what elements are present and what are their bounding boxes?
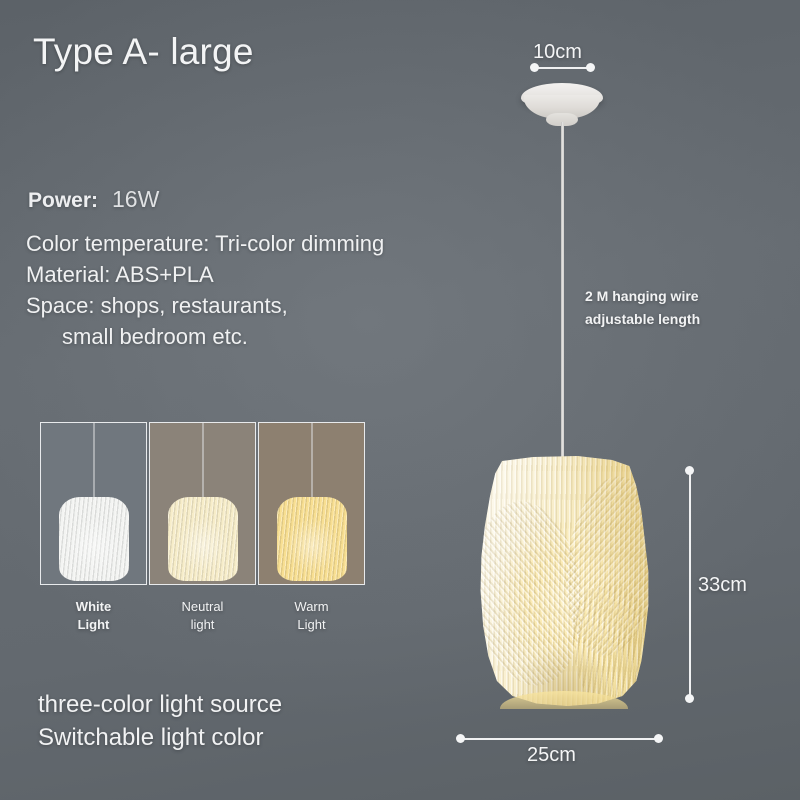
product-spec-image: Type A- large Power: 16W Color temperatu… — [0, 0, 800, 800]
dimension-line-width-bottom — [464, 738, 658, 740]
wire-note-line-1: 2 M hanging wire — [585, 285, 700, 308]
power-value: 16W — [112, 186, 159, 213]
color-temperature-swatches: White Light Neutral light Warm Light — [40, 422, 365, 634]
swatch-panel-white — [40, 422, 147, 585]
dimension-dot-left — [456, 734, 465, 743]
swatch-warm-light[interactable]: Warm Light — [258, 422, 365, 634]
power-spec-row: Power: 16W — [28, 186, 159, 213]
swatch-label-neutral: Neutral light — [149, 598, 256, 634]
dimension-dot-right — [654, 734, 663, 743]
dimension-dot-right — [586, 63, 595, 72]
swatch-label-line1: White — [40, 598, 147, 616]
swatch-label-line2: Light — [40, 616, 147, 634]
spec-line-space: Space: shops, restaurants, — [26, 290, 384, 321]
swatch-label-line2: Light — [258, 616, 365, 634]
dimension-dot-top — [685, 466, 694, 475]
dimension-line-width-top — [538, 67, 590, 69]
swatch-white-light[interactable]: White Light — [40, 422, 147, 634]
dimension-label-width-top: 10cm — [533, 41, 582, 64]
hanging-wire-note: 2 M hanging wire adjustable length — [585, 285, 700, 331]
pendant-lamp-product-image — [478, 456, 650, 706]
swatch-label-line1: Neutral — [149, 598, 256, 616]
swatch-cord — [93, 423, 94, 499]
dimension-dot-bottom — [685, 694, 694, 703]
dimension-label-width-bottom: 25cm — [527, 744, 576, 767]
lamp-shading-overlay — [478, 456, 650, 706]
mini-lamp-icon — [277, 497, 347, 581]
dimension-dot-left — [530, 63, 539, 72]
spec-line-space-continued: small bedroom etc. — [26, 321, 384, 352]
mini-lamp-icon — [168, 497, 238, 581]
swatch-label-white: White Light — [40, 598, 147, 634]
swatch-panel-neutral — [149, 422, 256, 585]
power-label: Power: — [28, 189, 98, 213]
mini-lamp-icon — [59, 497, 129, 581]
lamp-shade-texture — [478, 456, 650, 706]
page-title: Type A- large — [33, 31, 254, 73]
swatch-neutral-light[interactable]: Neutral light — [149, 422, 256, 634]
swatch-label-warm: Warm Light — [258, 598, 365, 634]
wire-note-line-2: adjustable length — [585, 308, 700, 331]
swatch-cord — [311, 423, 312, 499]
swatch-panel-warm — [258, 422, 365, 585]
swatch-label-line1: Warm — [258, 598, 365, 616]
dimension-line-height — [689, 472, 691, 700]
spec-list: Color temperature: Tri-color dimming Mat… — [26, 228, 384, 352]
caption-line-1: three-color light source — [38, 688, 282, 721]
hanging-cord — [561, 122, 564, 460]
swatch-label-line2: light — [149, 616, 256, 634]
spec-line-material: Material: ABS+PLA — [26, 259, 384, 290]
swatch-cord — [202, 423, 203, 499]
caption-line-2: Switchable light color — [38, 721, 282, 754]
dimension-label-height: 33cm — [698, 574, 747, 597]
bottom-caption: three-color light source Switchable ligh… — [38, 688, 282, 754]
spec-line-color-temperature: Color temperature: Tri-color dimming — [26, 228, 384, 259]
